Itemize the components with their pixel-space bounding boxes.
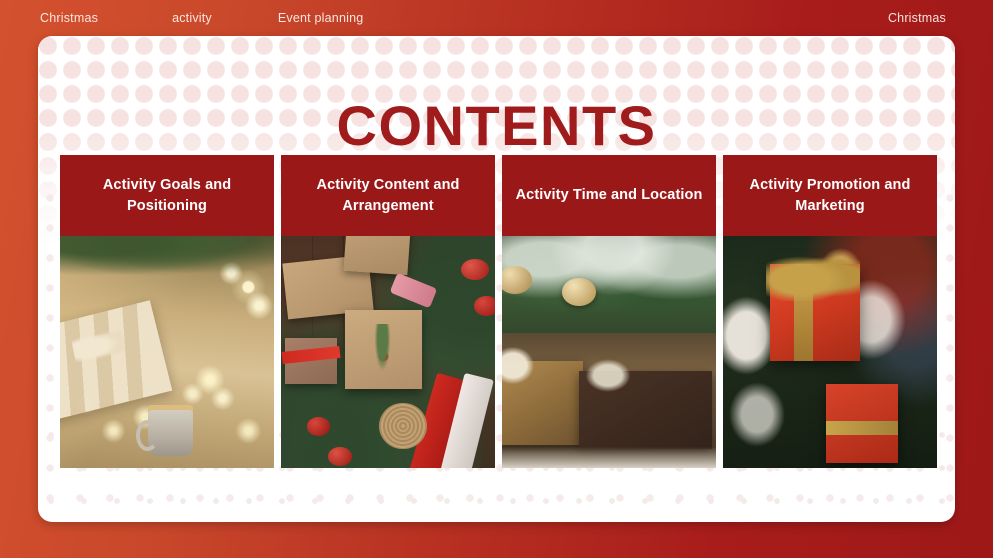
slide-panel: CONTENTS Activity Goals and Positioning … bbox=[38, 36, 955, 522]
card-4-image bbox=[723, 236, 937, 468]
card-4-header: Activity Promotion and Marketing bbox=[723, 155, 937, 236]
coffee-mug bbox=[148, 405, 193, 456]
card-3-header: Activity Time and Location bbox=[502, 155, 716, 236]
nav-item-activity[interactable]: activity bbox=[172, 11, 212, 25]
kraft-gift-box-3 bbox=[345, 310, 422, 389]
red-bauble-3 bbox=[307, 417, 331, 436]
twine-spool bbox=[379, 403, 426, 449]
nav-item-event-planning[interactable]: Event planning bbox=[278, 11, 364, 25]
red-bauble-4 bbox=[328, 447, 352, 466]
card-2-image bbox=[281, 236, 495, 468]
gold-wrapped-present bbox=[502, 361, 583, 445]
card-2-title: Activity Content and Arrangement bbox=[293, 175, 483, 216]
red-ribbon-gift-box bbox=[285, 338, 336, 384]
red-bauble-1 bbox=[461, 259, 489, 280]
top-navigation-bar: Christmas activity Event planning Christ… bbox=[0, 0, 993, 36]
page-title: CONTENTS bbox=[38, 98, 955, 154]
card-2-header: Activity Content and Arrangement bbox=[281, 155, 495, 236]
card-3-image bbox=[502, 236, 716, 468]
flocked-christmas-tree bbox=[502, 236, 716, 333]
content-card-1[interactable]: Activity Goals and Positioning bbox=[60, 155, 274, 468]
nav-left-group: Christmas activity Event planning bbox=[40, 11, 363, 25]
pine-branch-decor-icon bbox=[60, 236, 274, 282]
dark-glitter-present bbox=[579, 371, 712, 450]
content-card-4[interactable]: Activity Promotion and Marketing bbox=[723, 155, 937, 468]
nav-item-christmas[interactable]: Christmas bbox=[40, 11, 98, 25]
content-card-2[interactable]: Activity Content and Arrangement bbox=[281, 155, 495, 468]
gold-ribbon-bow bbox=[766, 250, 860, 301]
white-feather-decor-3 bbox=[727, 380, 787, 450]
nav-right-group: Christmas bbox=[888, 0, 946, 36]
snow-floor-decor bbox=[502, 447, 716, 468]
gold-bauble-1 bbox=[562, 278, 596, 306]
red-bauble-2 bbox=[474, 296, 495, 316]
red-gift-box-2 bbox=[826, 384, 899, 463]
contents-card-grid: Activity Goals and Positioning Activity … bbox=[60, 155, 937, 468]
nav-item-christmas-right[interactable]: Christmas bbox=[888, 11, 946, 25]
card-3-title: Activity Time and Location bbox=[516, 185, 703, 206]
card-1-image bbox=[60, 236, 274, 468]
card-1-title: Activity Goals and Positioning bbox=[72, 175, 262, 216]
card-1-header: Activity Goals and Positioning bbox=[60, 155, 274, 236]
kraft-gift-box-2 bbox=[344, 236, 411, 275]
card-4-title: Activity Promotion and Marketing bbox=[735, 175, 925, 216]
content-card-3[interactable]: Activity Time and Location bbox=[502, 155, 716, 468]
